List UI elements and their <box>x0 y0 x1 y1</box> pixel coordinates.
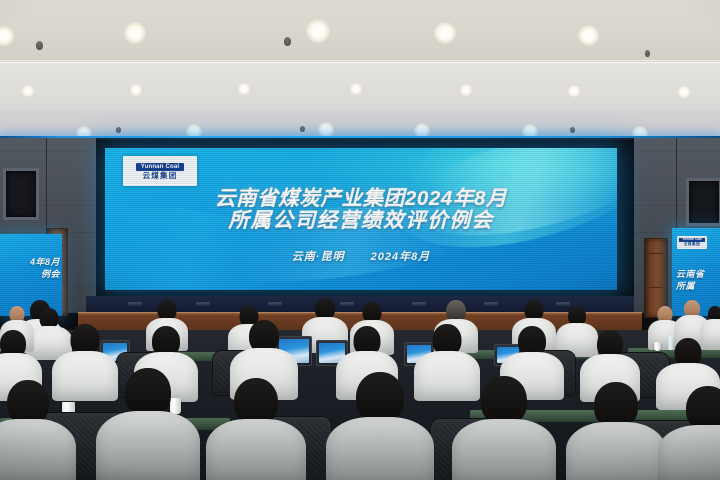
slide-title: 云南省煤炭产业集团2024年8月 所属公司经营绩效评价例会 <box>105 188 617 232</box>
ceiling-downlight <box>22 85 34 97</box>
microphone-icon <box>484 302 498 306</box>
logo-english-text: Yunnan Coal <box>136 163 185 171</box>
ceiling-downlight <box>568 85 580 97</box>
ceiling-downlight <box>460 84 472 96</box>
attendee-front-row <box>0 380 76 480</box>
company-logo: Yunnan Coal 云煤集团 <box>123 156 197 186</box>
ceiling-downlight <box>130 84 142 96</box>
wall-frame-left <box>3 168 39 220</box>
main-led-screen[interactable]: Yunnan Coal 云煤集团 云南省煤炭产业集团2024年8月 所属公司经营… <box>105 148 617 290</box>
microphone-icon <box>128 302 142 306</box>
ceiling-sprinkler-icon <box>36 41 43 50</box>
ceiling-sprinkler-icon <box>300 126 305 132</box>
ceiling-downlight <box>350 83 362 95</box>
ceiling-downlight <box>578 25 599 46</box>
attendee-front-row <box>566 382 666 480</box>
conference-hall-photo: Yunnan Coal 云煤集团 云南省煤炭产业集团2024年8月 所属公司经营… <box>0 0 720 480</box>
microphone-icon <box>196 302 210 306</box>
microphone-icon <box>268 302 282 306</box>
slide-subtitle-location: 云南·昆明 <box>292 251 345 263</box>
ceiling-sprinkler-icon <box>645 50 650 57</box>
ceiling-sprinkler-icon <box>284 37 291 46</box>
side-screen-left-text: 4年8月 例会 <box>30 256 60 280</box>
attendee-front-row <box>206 378 306 480</box>
slide-title-line-2: 所属公司经营绩效评价例会 <box>105 210 617 232</box>
logo-chinese-text: 云煤集团 <box>143 172 178 180</box>
ceiling-sprinkler-icon <box>570 127 575 133</box>
slide-subtitle-date: 2024年8月 <box>371 251 431 263</box>
ceiling-downlight <box>238 83 250 95</box>
microphone-icon <box>412 302 426 306</box>
ceiling-upper <box>0 0 720 62</box>
attendee-front-row <box>452 376 556 480</box>
ceiling-downlight <box>678 86 690 98</box>
attendee-front-row <box>96 368 200 480</box>
side-screen-logo: Yunnan Coal 云煤集团 <box>677 236 707 249</box>
wall-frame-right <box>686 178 720 226</box>
side-screen-left-line-2: 例会 <box>30 268 60 280</box>
ceiling-lower <box>0 110 720 138</box>
attendee-front-row <box>658 386 720 480</box>
slide-subtitle: 云南·昆明 2024年8月 <box>105 248 617 264</box>
ceiling-downlight <box>434 22 456 44</box>
slide-title-line-1: 云南省煤炭产业集团2024年8月 <box>105 188 617 210</box>
attendee-front-row <box>326 372 434 480</box>
ceiling-sprinkler-icon <box>116 127 121 133</box>
side-logo-chinese-text: 云煤集团 <box>684 242 700 246</box>
side-screen-right-line-2: 所属 <box>676 280 705 292</box>
side-screen-right-text: 云南省 所属 <box>676 268 705 292</box>
ceiling-downlight <box>124 22 146 44</box>
ceiling-downlight <box>306 19 330 43</box>
side-screen-left-line-1: 4年8月 <box>30 256 60 268</box>
side-screen-right-line-1: 云南省 <box>676 268 705 280</box>
